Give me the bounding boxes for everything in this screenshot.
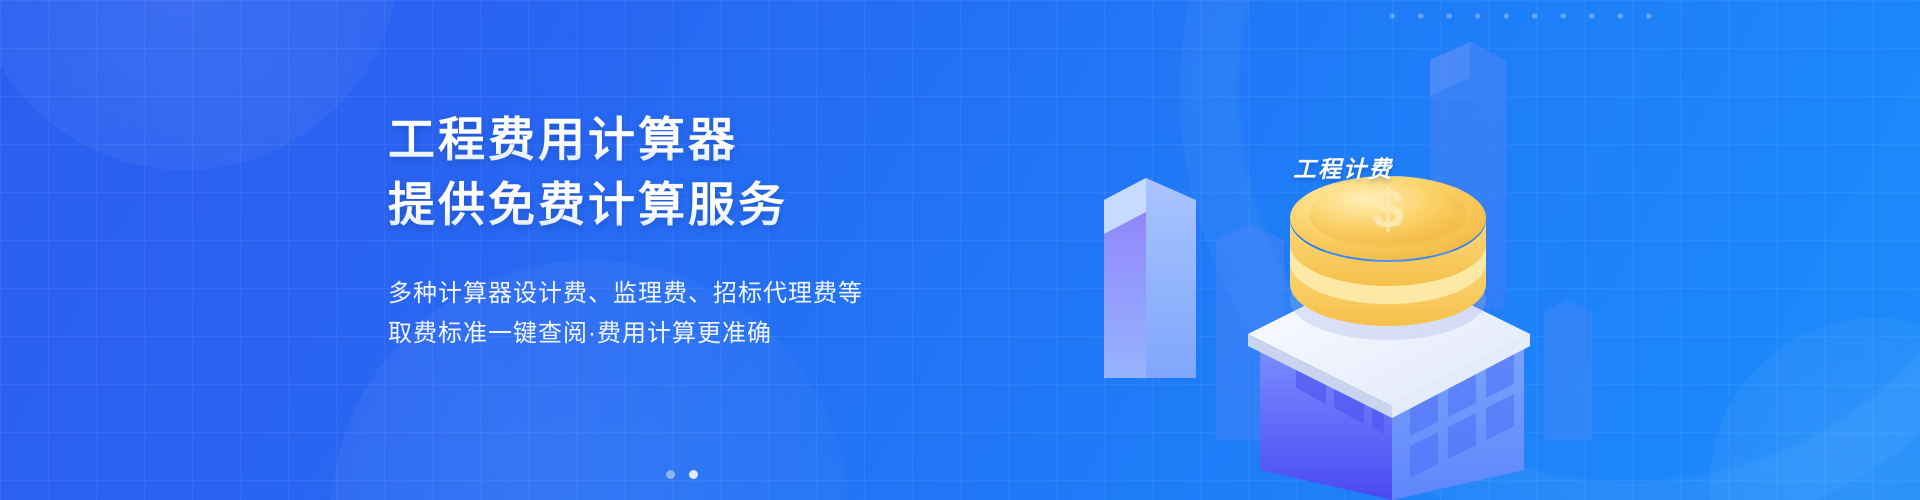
banner-title-line-1: 工程费用计算器 <box>388 112 1008 167</box>
bar-highlight <box>1104 178 1196 378</box>
carousel-dot-1[interactable] <box>666 470 675 479</box>
banner-subtitle: 多种计算器设计费、监理费、招标代理费等 取费标准一键查阅·费用计算更准确 <box>388 274 1008 354</box>
banner-illustration: $ 工程计费 <box>1100 0 1660 500</box>
hero-banner: 工程费用计算器 提供免费计算服务 多种计算器设计费、监理费、招标代理费等 取费标… <box>0 0 1920 500</box>
coin-dollar-symbol: $ <box>1372 177 1403 240</box>
circle-decoration-bottom-right <box>1710 318 1920 500</box>
banner-title-line-2: 提供免费计算服务 <box>388 177 1008 232</box>
coin-icon: $ <box>1290 176 1486 340</box>
illustration-svg: $ <box>1100 0 1660 500</box>
illustration-badge-label: 工程计费 <box>1293 150 1393 184</box>
banner-copy: 工程费用计算器 提供免费计算服务 多种计算器设计费、监理费、招标代理费等 取费标… <box>388 112 1008 354</box>
circle-decoration-top-left <box>0 0 400 170</box>
banner-subtitle-line-1: 多种计算器设计费、监理费、招标代理费等 <box>388 274 1008 314</box>
banner-subtitle-line-2: 取费标准一键查阅·费用计算更准确 <box>388 314 1008 354</box>
carousel-dot-2[interactable] <box>689 470 698 479</box>
carousel-dots[interactable] <box>666 470 698 479</box>
